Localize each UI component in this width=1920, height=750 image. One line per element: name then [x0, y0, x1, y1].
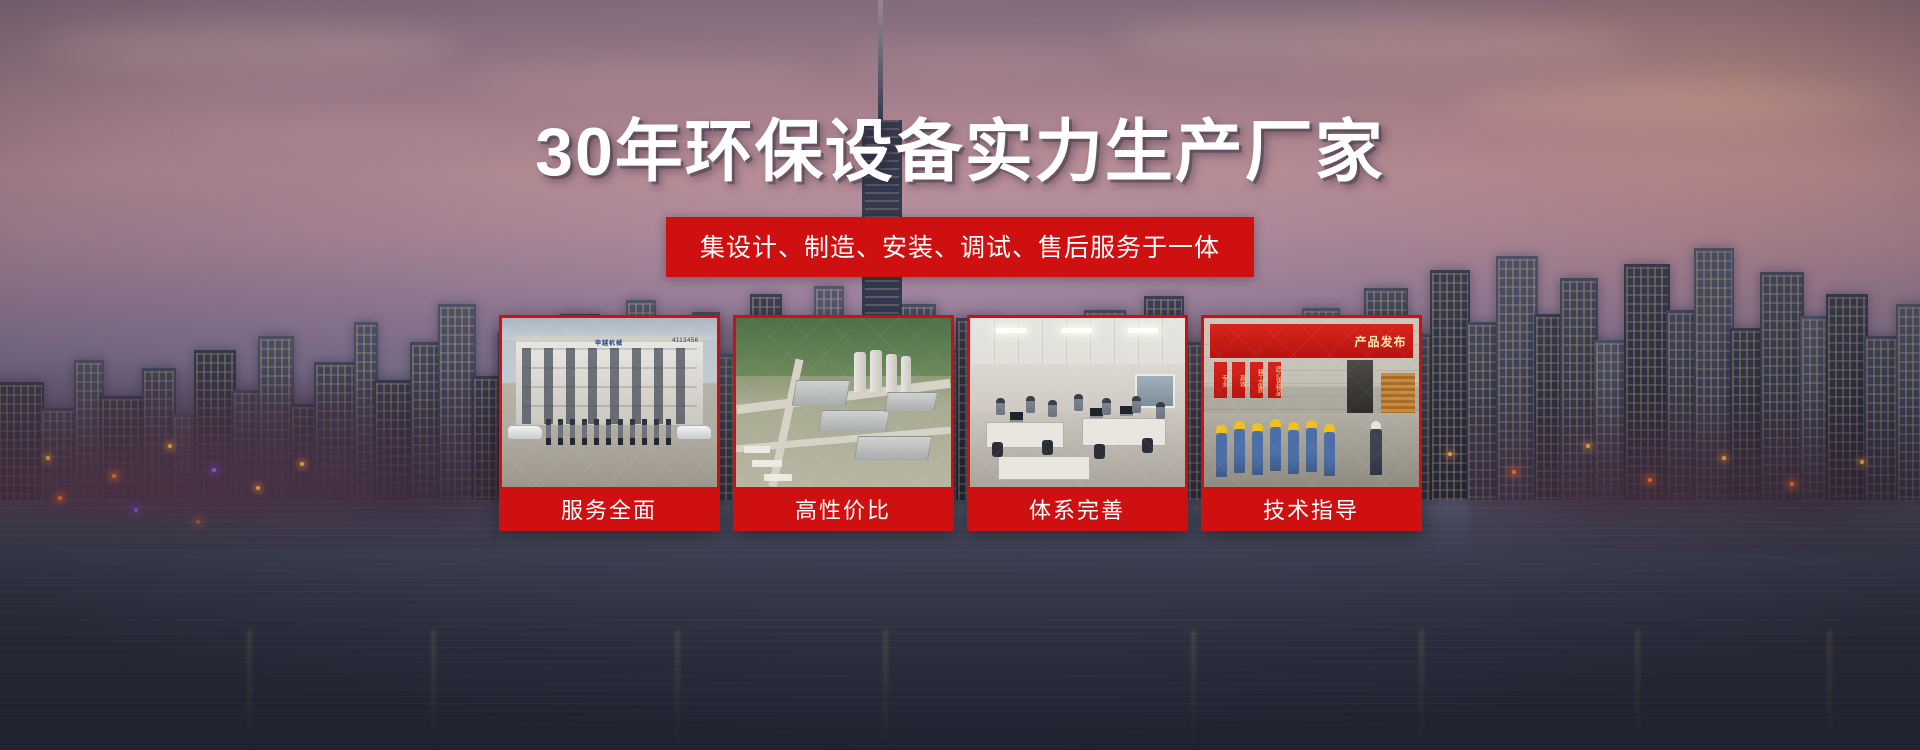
feature-card[interactable]: 体系完善: [967, 315, 1188, 531]
feature-card-list: 申越机械 4113456: [499, 315, 1422, 531]
feature-card[interactable]: 高性价比: [733, 315, 954, 531]
feature-card-label: 体系完善: [970, 487, 1185, 531]
factory-floor-workers-photo: 产品发布 专业 高效 精工品质 匠心铸精品: [1204, 318, 1419, 487]
feature-card-label: 技术指导: [1204, 487, 1419, 531]
feature-card-label: 高性价比: [736, 487, 951, 531]
photo-signage-secondary: 4113456: [672, 338, 698, 344]
company-office-building-staff-photo: 申越机械 4113456: [502, 318, 717, 487]
photo-signage-primary: 申越机械: [595, 338, 623, 347]
hero-banner: 30年环保设备实力生产厂家 集设计、制造、安装、调试、售后服务于一体 申越机械 …: [0, 0, 1920, 750]
photo-red-banner: 产品发布: [1210, 324, 1413, 358]
aerial-industrial-plant-photo: [736, 318, 951, 487]
feature-card[interactable]: 申越机械 4113456: [499, 315, 720, 531]
photo-vertical-banner: 专业: [1214, 362, 1227, 398]
photo-vertical-banner: 高效: [1232, 362, 1245, 398]
feature-card[interactable]: 产品发布 专业 高效 精工品质 匠心铸精品: [1201, 315, 1422, 531]
office-interior-staff-photo: [970, 318, 1185, 487]
banner-headline: 30年环保设备实力生产厂家: [535, 96, 1385, 195]
feature-card-label: 服务全面: [502, 487, 717, 531]
photo-vertical-banner: 精工品质: [1250, 362, 1263, 398]
photo-red-banner-text: 产品发布: [1354, 333, 1406, 350]
photo-vertical-banner: 匠心铸精品: [1268, 362, 1281, 398]
banner-subtitle-bar: 集设计、制造、安装、调试、售后服务于一体: [666, 217, 1254, 277]
